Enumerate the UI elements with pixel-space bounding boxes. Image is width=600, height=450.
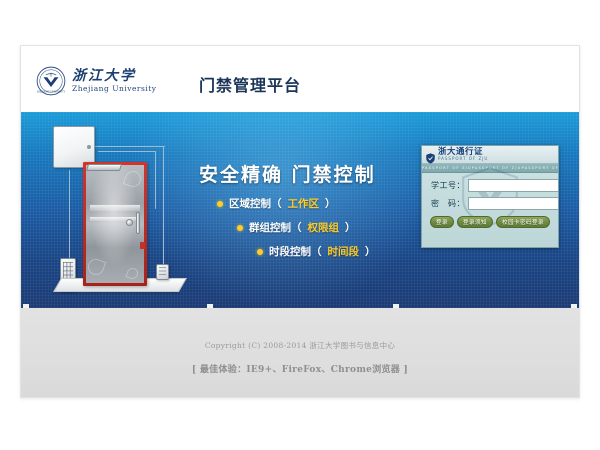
login-panel-title-cn: 浙大通行证 [438, 148, 488, 157]
password-input[interactable] [468, 197, 559, 210]
strip-text: PASSPORT OF ZJU [422, 166, 472, 170]
login-panel-title-en: PASSPORT OF ZJU [438, 157, 488, 161]
svg-text:ZHEJIANG UNIVERSITY: ZHEJIANG UNIVERSITY [37, 90, 66, 93]
bullet-dot-icon [237, 225, 243, 231]
door-motif [125, 266, 139, 280]
copyright-text: Copyright (C) 2008-2014 浙江大学图书与信息中心 [21, 340, 579, 351]
page-container: ZHEJIANG UNIVERSITY 浙江大学 Zhejiang Univer… [20, 45, 580, 398]
feature-label: 群组控制（ [249, 220, 302, 235]
page-title: 门禁管理平台 [199, 72, 301, 96]
logo-name-cn: 浙江大学 [72, 69, 157, 83]
logo-name-en: Zhejiang University [72, 85, 157, 93]
banner-feature-list: 区域控制（工作区） 群组控制（权限组） 时段控制（时间段） [217, 196, 376, 268]
banner-headline: 安全精确 门禁控制 [199, 160, 376, 187]
shield-icon [426, 149, 435, 160]
card-reader-icon [156, 264, 169, 280]
feature-tail: ） [325, 196, 336, 211]
wire-segment [98, 151, 156, 152]
logo-text-block: 浙江大学 Zhejiang University [72, 69, 157, 93]
university-logo[interactable]: ZHEJIANG UNIVERSITY 浙江大学 Zhejiang Univer… [36, 66, 157, 96]
username-input[interactable] [468, 179, 559, 192]
feature-tail: ） [345, 220, 356, 235]
access-control-door-illustration [43, 120, 193, 302]
feature-item-time-control: 时段控制（时间段） [257, 244, 376, 259]
wire-segment [155, 151, 156, 209]
login-panel: 浙大通行证 PASSPORT OF ZJU PASSPORT OF ZJU PA… [421, 145, 559, 248]
login-button[interactable]: 登录 [430, 216, 454, 228]
glass-highlight [90, 205, 140, 211]
login-row-password: 密 码： [428, 197, 552, 210]
feature-tail: ） [365, 244, 376, 259]
wire-segment [163, 146, 164, 266]
bullet-dot-icon [257, 249, 263, 255]
wire-segment [93, 146, 165, 147]
username-label: 学工号： [428, 180, 468, 191]
door-handle-icon [136, 212, 140, 234]
feature-highlight: 权限组 [308, 220, 340, 235]
login-panel-title-block: 浙大通行证 PASSPORT OF ZJU [438, 148, 488, 162]
browser-support-text: [ 最佳体验：IE9+、FireFox、Chrome浏览器 ] [21, 362, 579, 375]
feature-label: 时段控制（ [269, 244, 322, 259]
bullet-dot-icon [217, 201, 223, 207]
login-button-row: 登录 登录须知 校园卡密码登录 [428, 216, 552, 228]
strip-text: PASSPORT OF ZJU [521, 166, 558, 170]
feature-highlight: 时间段 [328, 244, 360, 259]
hero-banner: 安全精确 门禁控制 区域控制（工作区） 群组控制（权限组） 时段控制（时间段） [21, 112, 579, 308]
door-motif [123, 169, 144, 190]
door-closer-icon [86, 164, 122, 171]
strip-text: PASSPORT OF ZJU [472, 166, 522, 170]
zju-seal-icon: ZHEJIANG UNIVERSITY [36, 66, 66, 96]
feature-item-area-control: 区域控制（工作区） [217, 196, 376, 211]
campus-card-login-button[interactable]: 校园卡密码登录 [496, 216, 550, 228]
login-row-username: 学工号： [428, 179, 552, 192]
login-panel-watermark-strip: PASSPORT OF ZJU PASSPORT OF ZJU PASSPORT… [422, 164, 558, 173]
door-latch-icon [140, 242, 145, 249]
login-notice-button[interactable]: 登录须知 [457, 216, 493, 228]
door-motif [86, 257, 106, 278]
site-header: ZHEJIANG UNIVERSITY 浙江大学 Zhejiang Univer… [21, 46, 579, 112]
login-panel-header: 浙大通行证 PASSPORT OF ZJU [422, 146, 558, 164]
login-form: 学工号： 密 码： 登录 登录须知 校园卡密码登录 [422, 173, 558, 228]
site-footer: Copyright (C) 2008-2014 浙江大学图书与信息中心 [ 最佳… [21, 308, 579, 397]
feature-highlight: 工作区 [288, 196, 320, 211]
feature-item-group-control: 群组控制（权限组） [237, 220, 376, 235]
password-label: 密 码： [428, 198, 468, 209]
door-knob-icon [126, 219, 133, 226]
wire-segment [69, 170, 70, 258]
feature-label: 区域控制（ [229, 196, 282, 211]
